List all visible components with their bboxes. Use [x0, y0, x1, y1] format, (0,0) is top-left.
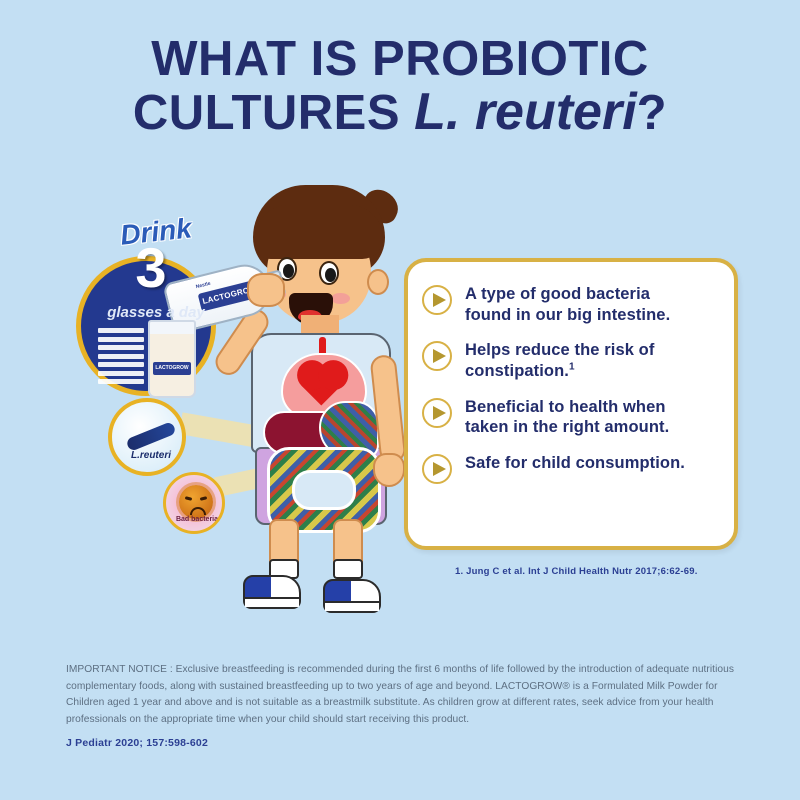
- good-bacteria-label: L.reuteri: [112, 450, 186, 461]
- good-bacteria-callout: L.reuteri: [108, 398, 186, 476]
- journal-reference: J Pediatr 2020; 157:598-602: [66, 737, 208, 749]
- bullet-text: Safe for child consumption.: [465, 453, 685, 474]
- list-item: Beneficial to health when taken in the r…: [422, 397, 720, 438]
- bullet-line-2: found in our big intestine.: [465, 305, 670, 326]
- play-triangle-icon: [422, 285, 452, 315]
- shoe-right: [323, 579, 381, 613]
- ear: [367, 269, 389, 295]
- bullet-line-2: constipation.1: [465, 361, 654, 382]
- badge-number: 3: [116, 240, 186, 296]
- footnote-citation: 1. Jung C et al. Int J Child Health Nutr…: [455, 566, 698, 577]
- facts-panel: A type of good bacteria found in our big…: [404, 258, 738, 550]
- bullet-line-2-text: constipation.: [465, 362, 569, 380]
- title-line-1: WHAT IS PROBIOTIC: [0, 34, 800, 85]
- title-prefix: CULTURES: [133, 86, 400, 140]
- angry-germ-icon: [179, 485, 213, 519]
- badge-subtitle: glasses a day: [80, 304, 232, 321]
- important-notice-text: IMPORTANT NOTICE : Exclusive breastfeedi…: [66, 662, 738, 728]
- bullet-line-1: Beneficial to health when: [465, 397, 669, 418]
- facts-list: A type of good bacteria found in our big…: [422, 284, 720, 484]
- play-triangle-icon: [422, 398, 452, 428]
- bottle-brand-top: Nestle: [195, 281, 211, 290]
- glass-tally-ladder-icon: [98, 328, 144, 390]
- infographic-canvas: WHAT IS PROBIOTIC CULTURES L. reuteri? D…: [0, 0, 800, 800]
- bullet-text: A type of good bacteria found in our big…: [465, 284, 670, 325]
- hair-fringe: [255, 205, 383, 259]
- bullet-line-2: taken in the right amount.: [465, 417, 669, 438]
- bullet-line-1: Helps reduce the risk of: [465, 340, 654, 361]
- cheek-right: [331, 293, 350, 304]
- title-species-italic: L. reuteri: [414, 83, 637, 141]
- footnote-marker: 1: [569, 361, 575, 372]
- bullet-line-1: Safe for child consumption.: [465, 453, 685, 474]
- list-item: Helps reduce the risk of constipation.1: [422, 340, 720, 381]
- milk-glass-brand: LACTOGROW: [153, 362, 191, 375]
- title-question-mark: ?: [637, 86, 667, 140]
- title-line-2: CULTURES L. reuteri?: [0, 85, 800, 139]
- list-item: A type of good bacteria found in our big…: [422, 284, 720, 325]
- bullet-line-1: A type of good bacteria: [465, 284, 670, 305]
- list-item: Safe for child consumption.: [422, 453, 720, 484]
- bullet-text: Beneficial to health when taken in the r…: [465, 397, 669, 438]
- eye-right: [319, 261, 339, 285]
- milk-glass-icon: LACTOGROW: [148, 320, 196, 398]
- boy-illustration: Nestle LACTOGROW: [215, 185, 430, 645]
- page-title: WHAT IS PROBIOTIC CULTURES L. reuteri?: [0, 34, 800, 139]
- rod-bacterium-icon: [125, 421, 176, 452]
- play-triangle-icon: [422, 341, 452, 371]
- hand-right: [373, 453, 405, 487]
- bullet-text: Helps reduce the risk of constipation.1: [465, 340, 654, 381]
- play-triangle-icon: [422, 454, 452, 484]
- shoe-left: [243, 575, 301, 609]
- sock-right: [333, 559, 363, 579]
- hand-left: [247, 273, 285, 307]
